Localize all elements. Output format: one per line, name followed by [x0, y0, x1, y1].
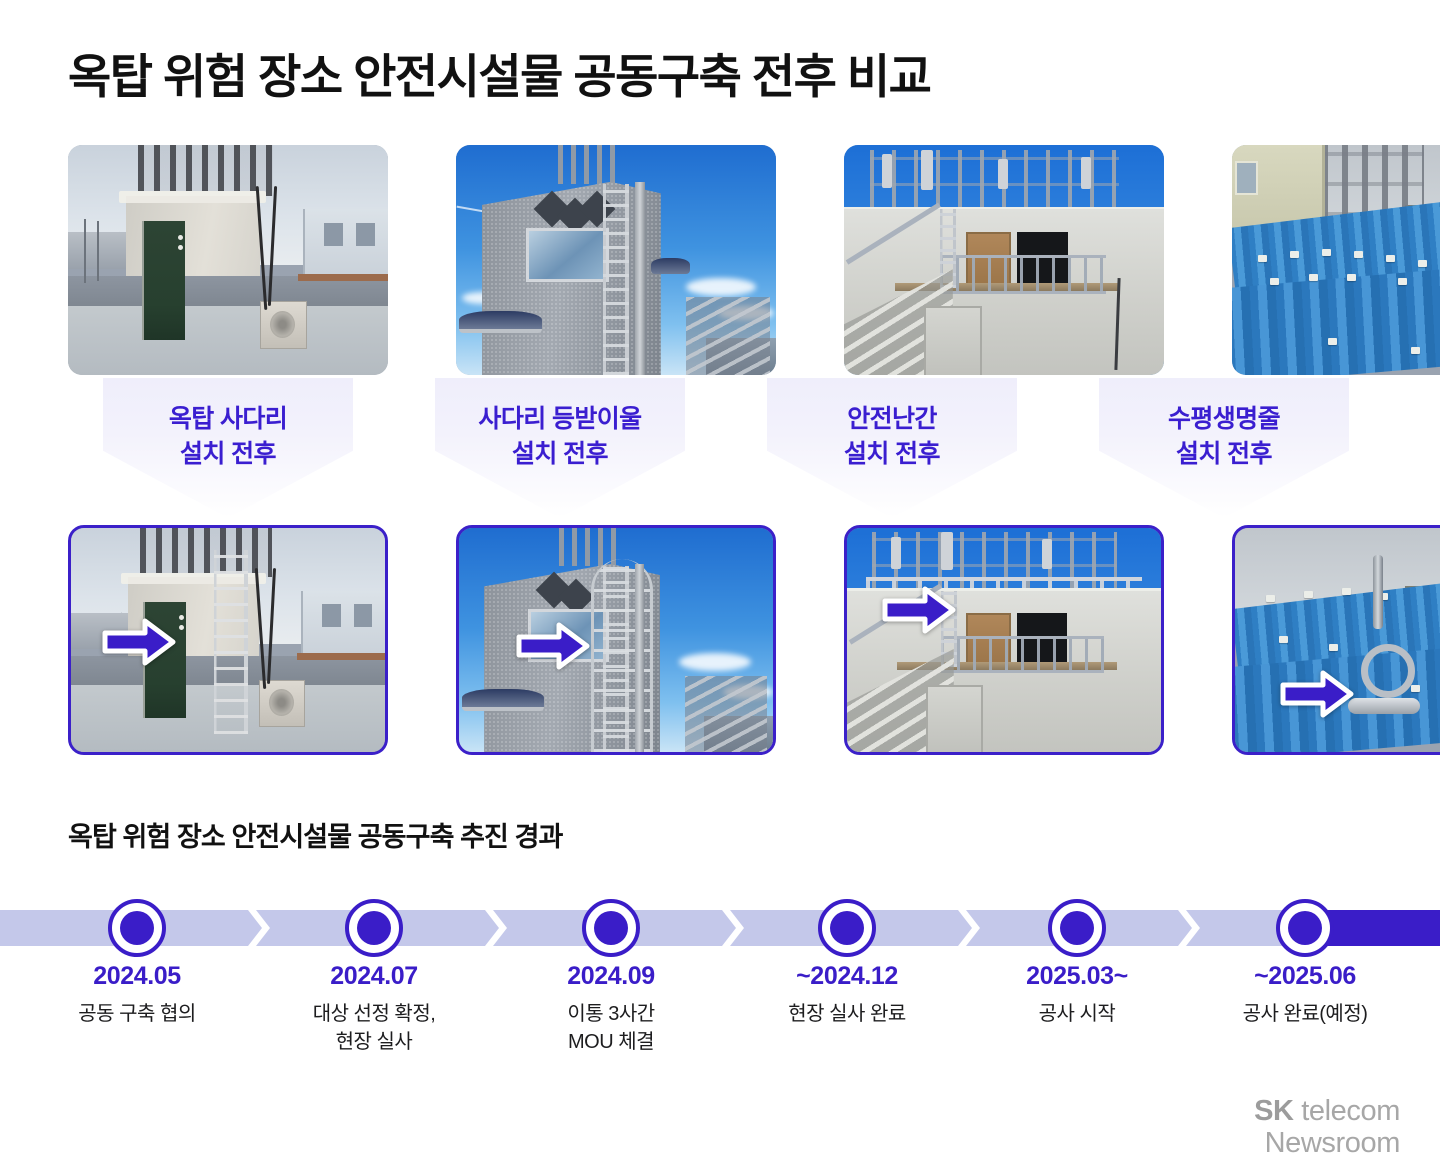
pipe [635, 564, 644, 752]
roof-clip [1386, 255, 1395, 262]
timeline-label-6: ~2025.06 공사 완료(예정) [1185, 962, 1425, 1028]
timeline-track [0, 910, 1440, 946]
logo-sk: SK [1254, 1095, 1294, 1127]
antenna [1081, 157, 1091, 189]
timeline-node-2[interactable] [345, 899, 403, 957]
timeline-desc-1: 공동 구축 협의 [17, 1000, 257, 1028]
caption-cell-3: 안전난간 설치 전후 [732, 392, 1052, 471]
roof-clip [1347, 274, 1356, 281]
pole [84, 219, 86, 283]
canopy [651, 258, 689, 274]
timeline-date-6: ~2025.06 [1185, 962, 1425, 991]
timeline-label-3: 2024.09 이통 3사간 MOU 체결 [491, 962, 731, 1057]
pole [97, 221, 99, 281]
antenna [921, 150, 933, 190]
timeline-date-5: 2025.03~ [957, 962, 1197, 991]
roof-clip [1411, 347, 1420, 354]
timeline-node-4[interactable] [818, 899, 876, 957]
timeline-desc-3: 이통 3사간 MOU 체결 [491, 1000, 731, 1057]
exterior-stair [686, 297, 769, 375]
after-photo-ladder-cage [456, 525, 776, 755]
neighbor-window [354, 604, 373, 626]
timeline-node-5[interactable] [1048, 899, 1106, 957]
neighbor-window [322, 604, 341, 626]
roof-clip [1329, 644, 1338, 651]
before-photo-cell-4 [1232, 145, 1440, 375]
roof-clip [1270, 278, 1279, 285]
roof-clip [1411, 685, 1420, 692]
pipe [635, 182, 645, 375]
caption-cell-4: 수평생명줄 설치 전후 [1064, 392, 1384, 471]
window [526, 228, 609, 282]
after-photo-row [0, 525, 1440, 755]
roof-clip [1290, 251, 1299, 258]
timeline-label-2: 2024.07 대상 선정 확정, 현장 실사 [254, 962, 494, 1057]
before-photo-cell-3 [844, 145, 1164, 375]
window [1235, 161, 1258, 195]
timeline-date-3: 2024.09 [491, 962, 731, 991]
caption-3: 안전난간 설치 전후 [732, 392, 1052, 471]
canopy [462, 689, 544, 711]
logo-telecom: telecom [1294, 1095, 1400, 1127]
roof-clip [1328, 338, 1337, 345]
ladder [603, 184, 629, 375]
page-title: 옥탑 위험 장소 안전시설물 공동구축 전후 비교 [68, 38, 930, 107]
caption-1: 옥탑 사다리 설치 전후 [68, 392, 388, 471]
timeline-node-6[interactable] [1276, 899, 1334, 957]
before-photo-guardrail [844, 145, 1164, 375]
railing [941, 636, 1104, 673]
roof-clip [1342, 588, 1351, 595]
antenna [882, 154, 892, 188]
antenna [998, 159, 1008, 189]
timeline-label-4: ~2024.12 현장 실사 완료 [727, 962, 967, 1028]
parapet [68, 276, 388, 308]
caption-4-line1: 수평생명줄 [1064, 402, 1384, 437]
roof-clip [1279, 636, 1288, 643]
after-photo-cell-4 [1232, 525, 1440, 755]
roof-clip [1322, 249, 1331, 256]
timeline-track-remaining [0, 910, 1313, 946]
roof-clip [1266, 595, 1275, 602]
roof-clip [1309, 274, 1318, 281]
roof-clip [1354, 251, 1363, 258]
antenna [891, 537, 901, 569]
roof-clip [1398, 278, 1407, 285]
after-photo-lifeline [1232, 525, 1440, 755]
highlight-arrow-icon [101, 616, 177, 668]
roof-clip [1418, 260, 1427, 267]
timeline-date-2: 2024.07 [254, 962, 494, 991]
caption-cell-2: 사다리 등받이울 설치 전후 [400, 392, 720, 471]
after-photo-cell-2 [456, 525, 776, 755]
rail-trim [297, 653, 385, 660]
highlight-arrow-icon [881, 584, 957, 636]
after-photo-cell-3 [844, 525, 1164, 755]
highlight-arrow-icon [1279, 668, 1355, 720]
timeline-desc-6: 공사 완료(예정) [1185, 1000, 1425, 1028]
caption-cell-1: 옥탑 사다리 설치 전후 [68, 392, 388, 471]
antenna-mast [140, 528, 272, 577]
rail-trim [298, 274, 388, 281]
antenna [1042, 539, 1052, 569]
exterior-stair [685, 676, 767, 752]
before-photo-cell-1 [68, 145, 388, 375]
roof-clip [1258, 255, 1267, 262]
lower-door [924, 306, 982, 375]
sk-telecom-newsroom-logo: SK telecom Newsroom [1254, 1095, 1400, 1160]
before-photo-row [0, 145, 1440, 375]
lifeline-turnbuckle [1348, 698, 1420, 714]
ac-fan [269, 689, 294, 716]
highlight-arrow-icon [515, 620, 591, 672]
canopy [459, 311, 542, 333]
antenna-tower [558, 145, 616, 184]
timeline-heading: 옥탑 위험 장소 안전시설물 공동구축 추진 경과 [68, 815, 562, 854]
antenna-tower [559, 528, 616, 566]
railing [940, 255, 1106, 293]
antenna [941, 532, 953, 570]
lower-door [926, 685, 983, 755]
caption-3-line1: 안전난간 [732, 402, 1052, 437]
caption-4-line2: 설치 전후 [1064, 437, 1384, 472]
timeline-desc-2: 대상 선정 확정, 현장 실사 [254, 1000, 494, 1057]
timeline-desc-5: 공사 시작 [957, 1000, 1197, 1028]
antenna-mast [138, 145, 272, 196]
timeline-date-1: 2024.05 [17, 962, 257, 991]
before-photo-lifeline [1232, 145, 1440, 375]
caption-2-line1: 사다리 등받이울 [400, 402, 720, 437]
timeline-label-5: 2025.03~ 공사 시작 [957, 962, 1197, 1028]
timeline-node-1[interactable] [108, 899, 166, 957]
caption-2-line2: 설치 전후 [400, 437, 720, 472]
installed-ladder [214, 550, 249, 734]
after-photo-guardrail [844, 525, 1164, 755]
caption-1-line1: 옥탑 사다리 [68, 402, 388, 437]
caption-1-line2: 설치 전후 [68, 437, 388, 472]
caption-3-line2: 설치 전후 [732, 437, 1052, 472]
timeline-node-3[interactable] [582, 899, 640, 957]
lifeline-anchor-ring [1361, 644, 1415, 698]
before-photo-cell-2 [456, 145, 776, 375]
before-photo-ladder-cage [456, 145, 776, 375]
caption-2: 사다리 등받이울 설치 전후 [400, 392, 720, 471]
logo-brand-line: SK telecom [1254, 1095, 1400, 1127]
neighbor-window [356, 223, 375, 246]
rooftop-deck [68, 306, 388, 375]
timeline-date-4: ~2024.12 [727, 962, 967, 991]
after-photo-rooftop-ladder [68, 525, 388, 755]
timeline-label-1: 2024.05 공동 구축 협의 [17, 962, 257, 1028]
logo-newsroom: Newsroom [1254, 1127, 1400, 1159]
caption-4: 수평생명줄 설치 전후 [1064, 392, 1384, 471]
lifeline-chain [1373, 555, 1383, 629]
before-photo-rooftop-ladder [68, 145, 388, 375]
ac-fan [270, 311, 296, 339]
neighbor-window [324, 223, 343, 246]
roof-clip [1304, 591, 1313, 598]
timeline-desc-4: 현장 실사 완료 [727, 1000, 967, 1028]
after-photo-cell-1 [68, 525, 388, 755]
caption-row: 옥탑 사다리 설치 전후 사다리 등받이울 설치 전후 안전난간 설치 전후 수… [0, 392, 1440, 522]
